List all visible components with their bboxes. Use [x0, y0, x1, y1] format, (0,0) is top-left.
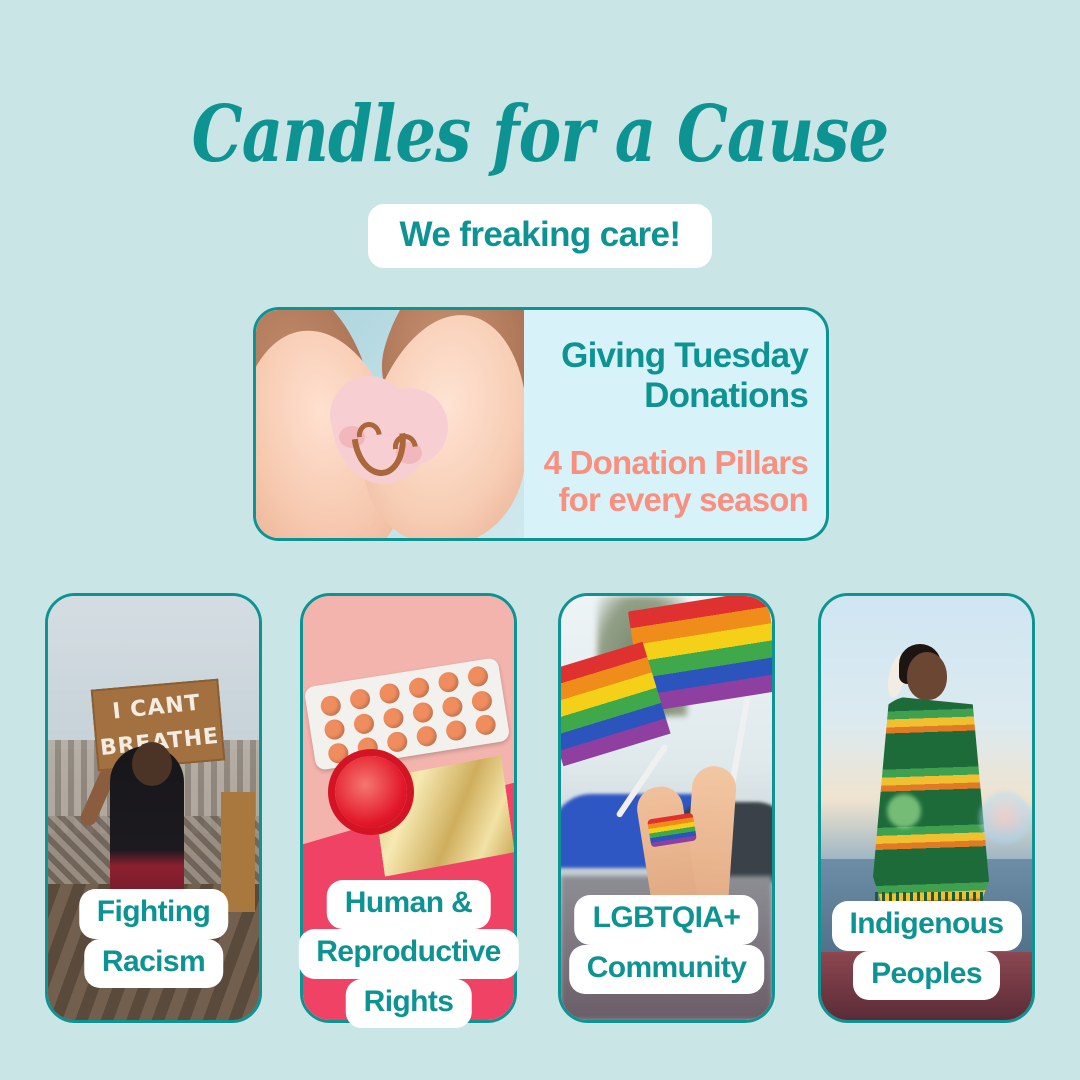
lens-flare: [887, 794, 921, 828]
photo-art: [561, 596, 772, 1020]
pill-blister-pack: [304, 657, 511, 771]
photo-art: [303, 596, 514, 1020]
giving-tuesday-banner[interactable]: Giving Tuesday Donations 4 Donation Pill…: [253, 307, 829, 541]
banner-title-line-1: Giving Tuesday: [561, 336, 808, 376]
donation-pillars-row: I CANT BREATHE Fighting Racism: [0, 593, 1080, 1053]
banner-title-line-2: Donations: [561, 376, 808, 416]
pillar-card-lgbtqia-community[interactable]: LGBTQIA+ Community: [558, 593, 775, 1023]
photo-art: [821, 596, 1032, 1020]
protester-head: [132, 742, 172, 786]
banner-subtitle: 4 Donation Pillars for every season: [544, 445, 808, 524]
face: [907, 652, 947, 700]
hands-holding-heart-photo: [256, 310, 524, 538]
tagline-row: We freaking care!: [0, 204, 1080, 268]
smiling-heart-icon: [330, 376, 448, 486]
tagline-pill: We freaking care!: [368, 204, 713, 268]
page-title: Candles for a Cause: [97, 96, 983, 174]
pillar-card-human-reproductive-rights[interactable]: Human & Reproductive Rights: [300, 593, 517, 1023]
contraception-flat-lay-photo: [303, 596, 514, 1020]
second-placard: [221, 792, 255, 912]
photo-art: I CANT BREATHE: [48, 596, 259, 1020]
condom-ring: [335, 756, 407, 828]
lens-flare: [979, 792, 1031, 844]
banner-subtitle-line-2: for every season: [544, 482, 808, 518]
indigenous-woman-blanket-photo: [821, 596, 1032, 1020]
pillar-card-indigenous-peoples[interactable]: Indigenous Peoples: [818, 593, 1035, 1023]
pillar-card-fighting-racism[interactable]: I CANT BREATHE Fighting Racism: [45, 593, 262, 1023]
banner-subtitle-line-1: 4 Donation Pillars: [544, 445, 808, 481]
blanket-fringe: [875, 892, 987, 938]
protest-i-cant-breathe-photo: I CANT BREATHE: [48, 596, 259, 1020]
banner-title: Giving Tuesday Donations: [561, 326, 808, 416]
pride-flags-photo: [561, 596, 772, 1020]
banner-text-column: Giving Tuesday Donations 4 Donation Pill…: [524, 310, 826, 538]
rock-foreground: [821, 952, 1032, 1020]
